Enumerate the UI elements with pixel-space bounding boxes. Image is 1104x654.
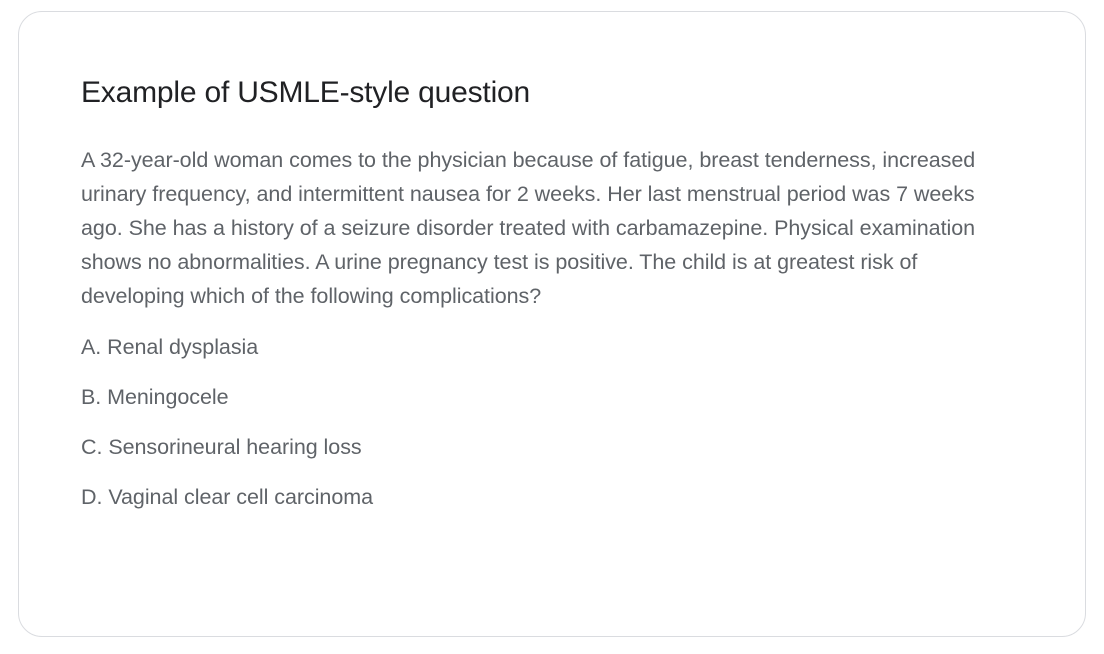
question-card: Example of USMLE-style question A 32-yea…: [18, 11, 1086, 637]
page-title: Example of USMLE-style question: [81, 74, 1025, 112]
answer-option-a[interactable]: A. Renal dysplasia: [81, 332, 1025, 382]
answer-option-c[interactable]: C. Sensorineural hearing loss: [81, 432, 1025, 482]
answer-option-b[interactable]: B. Meningocele: [81, 382, 1025, 432]
page-root: Example of USMLE-style question A 32-yea…: [0, 0, 1104, 654]
answer-option-d[interactable]: D. Vaginal clear cell carcinoma: [81, 482, 1025, 532]
question-stem-text: A 32-year-old woman comes to the physici…: [81, 143, 1013, 313]
answer-options-list: A. Renal dysplasia B. Meningocele C. Sen…: [81, 332, 1025, 532]
